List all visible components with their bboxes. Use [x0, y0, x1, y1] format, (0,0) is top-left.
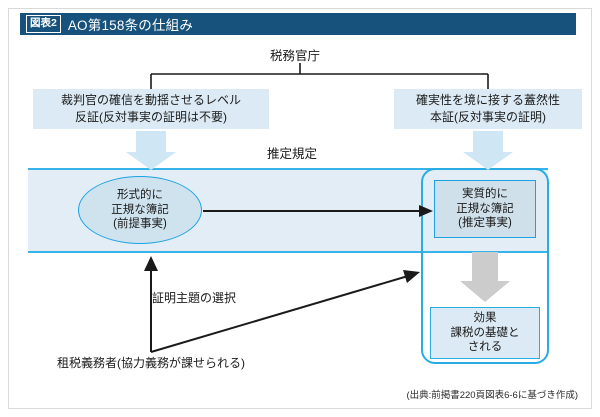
node-tax-authority: 税務官庁: [270, 48, 320, 65]
node-substantive-bookkeeping: 実質的に 正規な簿記 (推定事実): [434, 180, 536, 238]
figure-number-badge: 図表2: [26, 15, 61, 33]
node-taxation-effect: 効果 課税の基礎と される: [430, 307, 540, 359]
label-presumption-provision: 推定規定: [267, 146, 317, 163]
figure-root: 図表2 AO第158条の仕組み 税務官庁 裁判官の確信を動揺させるレベル 反証(…: [0, 0, 600, 417]
formal-bookkeeping-line-3: (前提事実): [113, 217, 167, 232]
formal-bookkeeping-line-2: 正規な簿記: [111, 203, 169, 218]
node-formal-bookkeeping: 形式的に 正規な簿記 (前提事実): [78, 176, 202, 244]
node-counterproof: 裁判官の確信を動揺させるレベル 反証(反対事実の証明は不要): [33, 89, 269, 129]
substantive-bookkeeping-line-1: 実質的に: [462, 187, 508, 202]
source-note: (出典:前掲書220頁図表6-6に基づき作成): [406, 387, 578, 401]
substantive-bookkeeping-line-2: 正規な簿記: [456, 202, 514, 217]
mainproof-line-1: 確実性を境に接する蓋然性: [416, 92, 560, 109]
counterproof-line-1: 裁判官の確信を動揺させるレベル: [61, 92, 241, 109]
effect-line-3: される: [468, 340, 503, 355]
formal-bookkeeping-line-1: 形式的に: [117, 188, 163, 203]
counterproof-line-2: 反証(反対事実の証明は不要): [75, 109, 227, 126]
node-taxpayer: 租税義務者(協力義務が課せられる): [57, 355, 245, 371]
effect-line-1: 効果: [474, 311, 497, 326]
effect-line-2: 課税の基礎と: [451, 326, 520, 341]
substantive-bookkeeping-line-3: (推定事実): [458, 216, 512, 231]
mainproof-line-2: 本証(反対事実の証明): [430, 109, 546, 126]
label-subject-selection: 証明主題の選択: [152, 290, 236, 306]
figure-header: 図表2 AO第158条の仕組み: [20, 13, 576, 35]
figure-title: AO第158条の仕組み: [68, 14, 193, 34]
node-mainproof: 確実性を境に接する蓋然性 本証(反対事実の証明): [394, 89, 582, 129]
